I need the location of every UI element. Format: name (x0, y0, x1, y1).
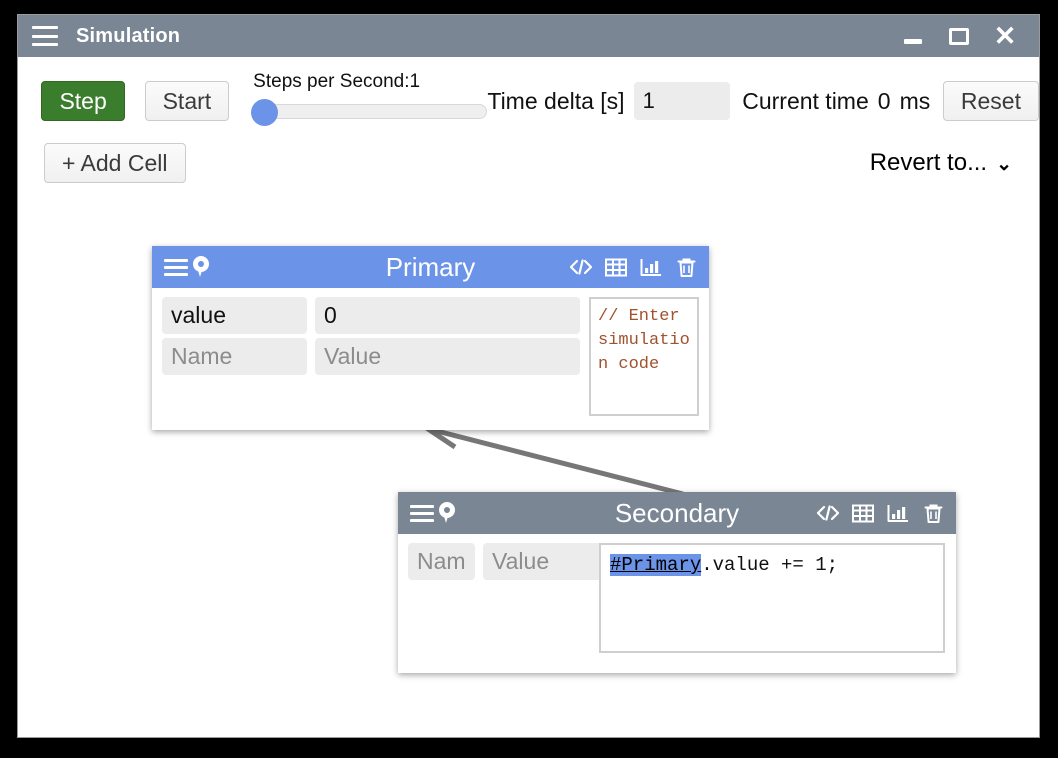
cell-secondary-actions (815, 500, 946, 526)
toolbar-row-secondary: + Add Cell Revert to... ⌄ (18, 139, 1039, 187)
cell-primary-code-editor[interactable]: // Enter simulation code (589, 297, 699, 416)
cell-canvas[interactable]: Primary (18, 202, 1039, 737)
window-controls: ✕ (901, 24, 1017, 48)
start-button[interactable]: Start (145, 81, 230, 121)
cell-primary-header[interactable]: Primary (152, 246, 709, 288)
trash-icon[interactable] (920, 500, 946, 526)
cell-primary-body: // Enter simulation code (152, 288, 709, 430)
time-delta-input[interactable] (634, 82, 730, 120)
cell-menu-icon[interactable] (410, 505, 434, 522)
current-time-value: 0 (878, 88, 891, 115)
steps-per-second-slider[interactable] (263, 104, 487, 119)
step-button[interactable]: Step (41, 81, 124, 121)
cell-secondary-code-editor[interactable]: #Primary.value += 1; (599, 543, 945, 653)
revert-to-label: Revert to... (870, 149, 987, 177)
chart-icon[interactable] (638, 254, 664, 280)
screen: Simulation ✕ Step Start Steps per Second… (0, 0, 1058, 758)
cell-primary-row-1 (162, 338, 580, 375)
cell-primary-row-0 (162, 297, 580, 334)
minimize-button[interactable] (901, 24, 925, 48)
pin-icon[interactable] (439, 502, 455, 524)
maximize-button[interactable] (947, 24, 971, 48)
revert-to-dropdown[interactable]: Revert to... ⌄ (870, 149, 1012, 177)
steps-per-second-label: Steps per Second:1 (253, 71, 420, 93)
cell-menu-icon[interactable] (164, 259, 188, 276)
window-title: Simulation (76, 25, 180, 48)
code-icon[interactable] (815, 500, 841, 526)
cell-secondary-header[interactable]: Secondary (398, 492, 956, 534)
cell-primary-actions (568, 254, 699, 280)
param-value-input[interactable] (483, 543, 603, 580)
param-name-input[interactable] (162, 338, 307, 375)
simulation-window: Simulation ✕ Step Start Steps per Second… (18, 15, 1039, 737)
time-delta-label: Time delta [s] (487, 88, 624, 115)
param-name-input[interactable] (162, 297, 307, 334)
window-titlebar: Simulation ✕ (18, 15, 1039, 57)
trash-icon[interactable] (673, 254, 699, 280)
maximize-icon (949, 28, 969, 45)
cell-secondary[interactable]: Secondary (398, 492, 956, 673)
current-time-unit: ms (900, 88, 931, 115)
cell-secondary-fields (408, 543, 603, 663)
param-value-input[interactable] (315, 338, 580, 375)
toolbar: Step Start Steps per Second:1 Time delta… (18, 57, 1039, 161)
current-time-label: Current time (742, 88, 869, 115)
close-button[interactable]: ✕ (993, 24, 1017, 48)
table-icon[interactable] (850, 500, 876, 526)
param-name-input[interactable] (408, 543, 475, 580)
cell-secondary-body: #Primary.value += 1; (398, 534, 956, 673)
code-icon[interactable] (568, 254, 594, 280)
close-icon: ✕ (994, 23, 1017, 50)
chart-icon[interactable] (885, 500, 911, 526)
chevron-down-icon: ⌄ (996, 155, 1012, 174)
steps-per-second-control: Steps per Second:1 (251, 77, 467, 125)
add-cell-button[interactable]: + Add Cell (44, 143, 186, 183)
cell-primary-fields (162, 297, 580, 420)
cell-secondary-row-0 (408, 543, 603, 580)
steps-per-second-slider-thumb[interactable] (251, 99, 278, 126)
cell-code-remainder: .value += 1; (701, 554, 838, 576)
minimize-icon (904, 39, 922, 44)
toolbar-row-primary: Step Start Steps per Second:1 Time delta… (18, 77, 1039, 125)
reset-button[interactable]: Reset (943, 81, 1039, 121)
param-value-input[interactable] (315, 297, 580, 334)
main-menu-icon[interactable] (32, 26, 58, 46)
pin-icon[interactable] (193, 256, 209, 278)
table-icon[interactable] (603, 254, 629, 280)
cell-primary[interactable]: Primary (152, 246, 709, 430)
cell-reference-token[interactable]: #Primary (610, 554, 701, 576)
